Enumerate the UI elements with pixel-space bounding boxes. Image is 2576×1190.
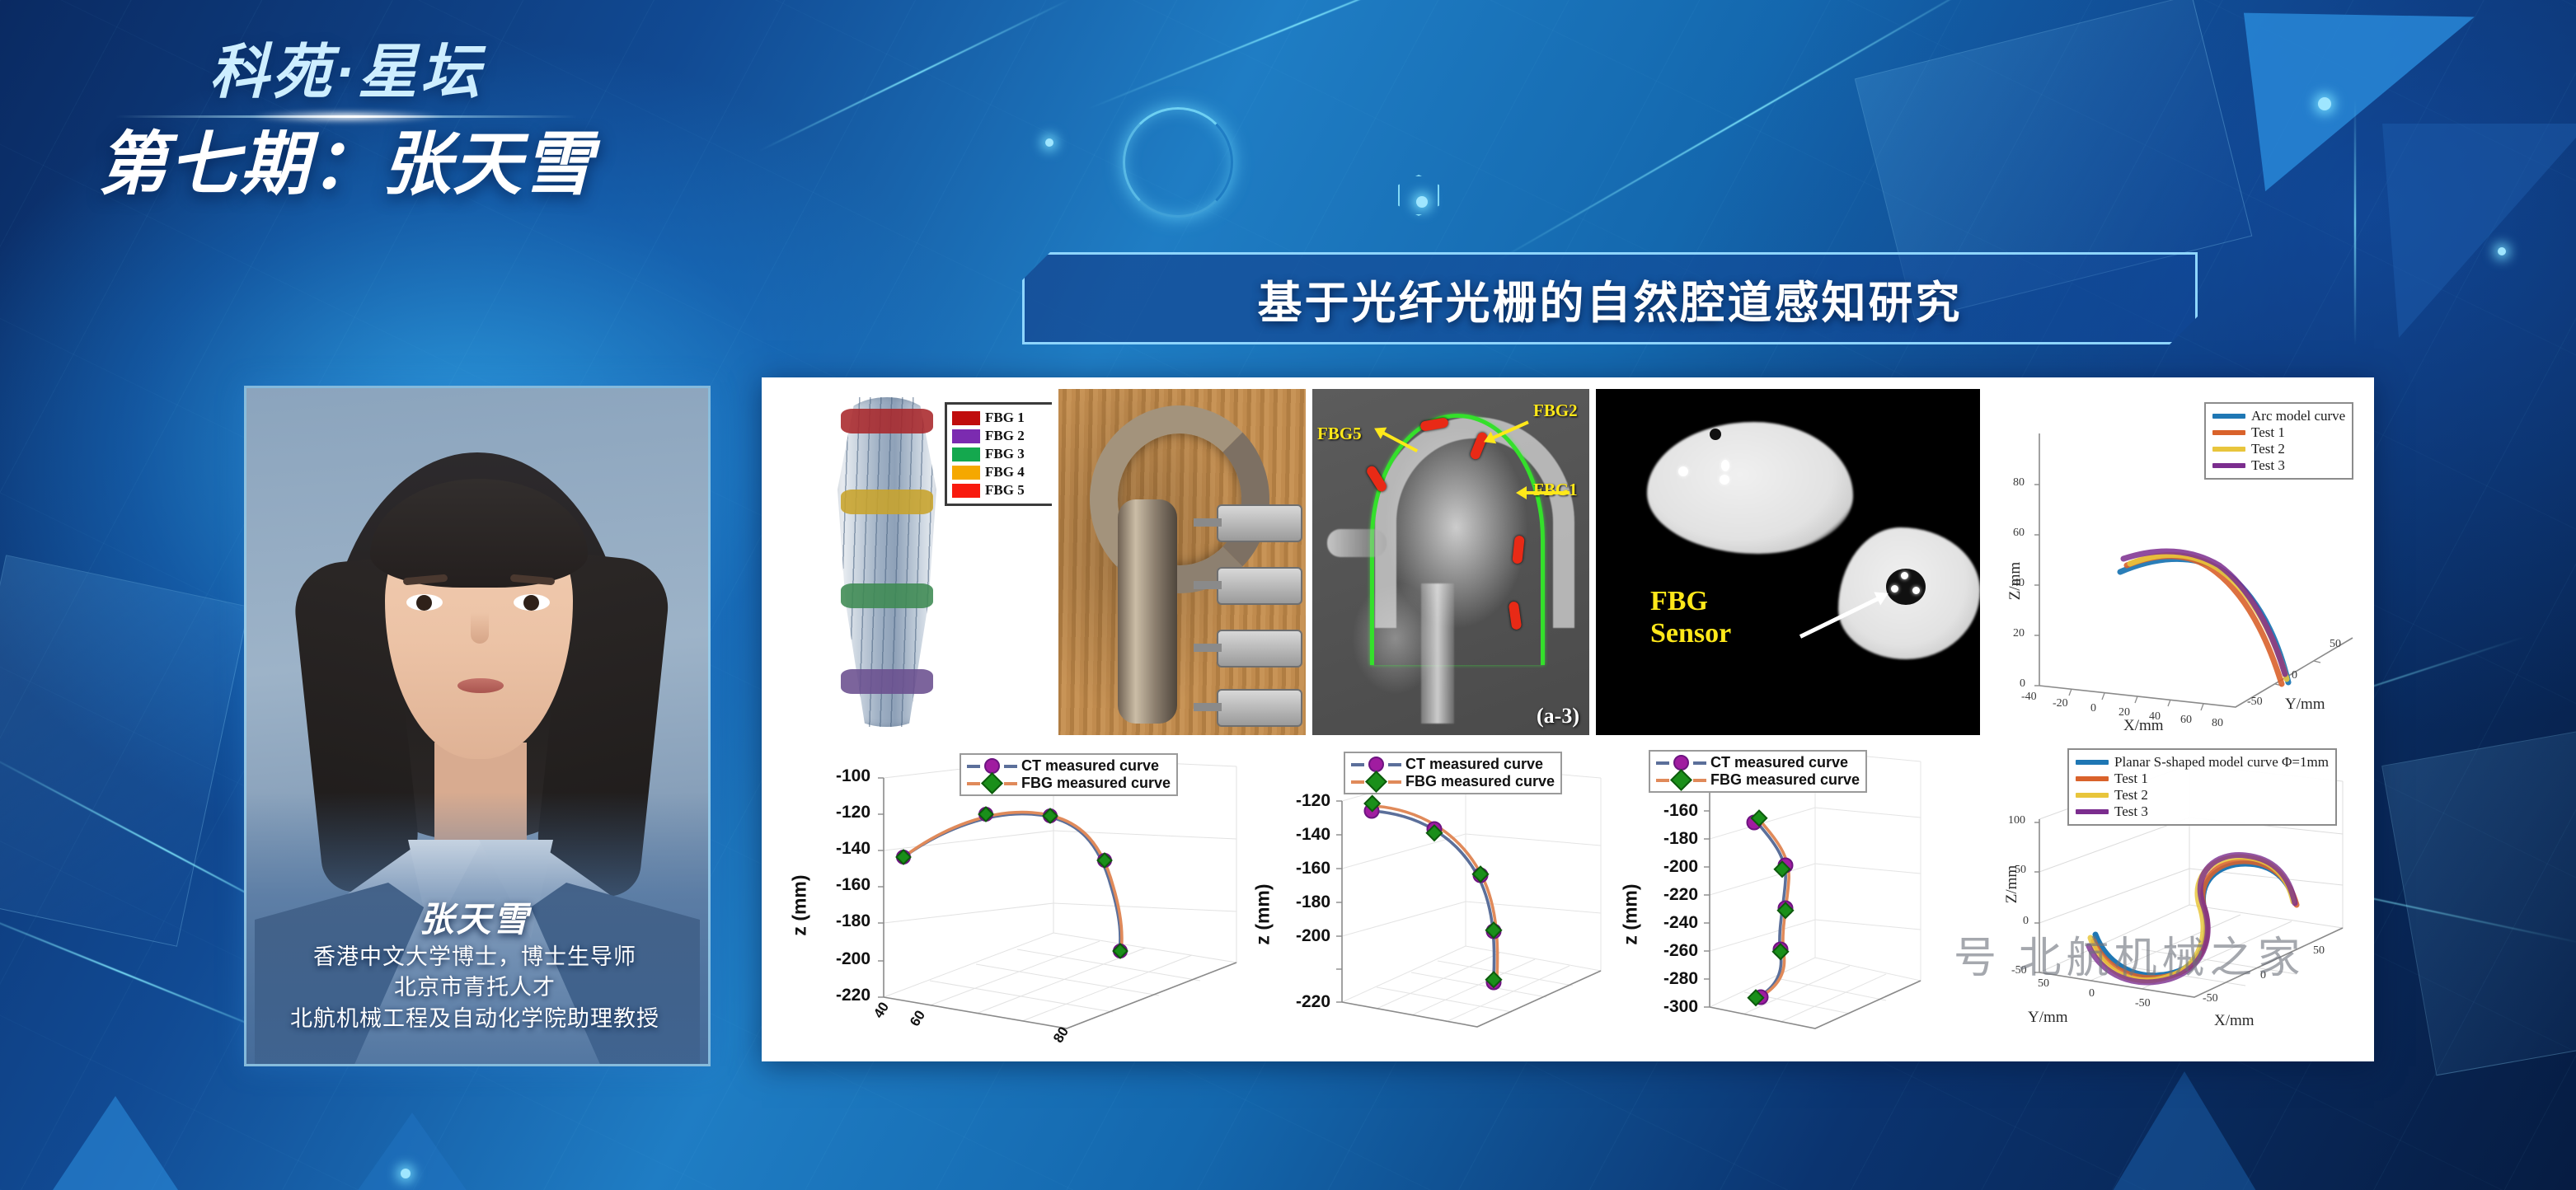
ztick-100: 100 bbox=[2008, 814, 2025, 827]
ct-bright-spot-1 bbox=[1678, 466, 1688, 476]
ytick--120: -120 bbox=[795, 803, 870, 822]
fbg1-tag: FBG1 bbox=[1533, 480, 1578, 500]
xtick--20: -20 bbox=[2053, 697, 2068, 710]
decor-triangle-bottom-left bbox=[49, 1096, 181, 1190]
decor-ring-arc bbox=[1123, 107, 1233, 218]
decor-glow-line-7 bbox=[2354, 99, 2356, 346]
tube-band-fbg4 bbox=[841, 490, 933, 514]
decor-triangle-bottom-mid bbox=[354, 1113, 470, 1190]
decor-dot-3 bbox=[401, 1169, 411, 1178]
legend-line-fbg-2 bbox=[1004, 782, 1017, 785]
legend-swatch-test3 bbox=[2076, 809, 2109, 814]
ytick--50: -50 bbox=[2135, 997, 2151, 1010]
legend-label: Arc model curve bbox=[2251, 408, 2345, 424]
fbg-swatch-4 bbox=[952, 466, 980, 480]
legend-row: Arc model curve bbox=[2212, 408, 2345, 424]
fbg1-arrow-icon bbox=[1525, 491, 1570, 494]
legend-swatch-test1 bbox=[2212, 430, 2245, 435]
legend-row: CT measured curve bbox=[1656, 754, 1860, 771]
ytick--120: -120 bbox=[1256, 791, 1330, 811]
fbg-swatch-2 bbox=[952, 429, 980, 443]
fbg-swatch-1 bbox=[952, 411, 980, 425]
decor-triangle-bottom-right bbox=[2110, 1071, 2259, 1190]
presenter-credential-1: 香港中文大学博士，博士生导师 bbox=[244, 942, 706, 972]
chart-ct-fbg-arc: CT measured curve FBG measured curve -10… bbox=[788, 750, 1250, 1050]
presenter-name: 张天雪 bbox=[244, 892, 706, 942]
decor-triangle-top-right bbox=[2241, 13, 2475, 195]
planar-axis-label-y: Y/mm bbox=[2028, 1009, 2068, 1027]
xtick-0: 0 bbox=[2090, 702, 2096, 715]
endoscope-assembly bbox=[1080, 401, 1220, 724]
arc-axis-label-x: X/mm bbox=[2123, 717, 2164, 735]
title-divider-glow bbox=[115, 115, 577, 118]
legend-line-ct bbox=[1351, 763, 1364, 766]
fbg-swatch-3 bbox=[952, 447, 980, 461]
fbg-swatch-5 bbox=[952, 484, 980, 498]
panel-fiber-tube-model: FBG 1 FBG 2 FBG 3 FBG 4 FBG 5 bbox=[788, 389, 1052, 735]
arc-axis-label-y: Y/mm bbox=[2285, 696, 2325, 714]
ytick--220: -220 bbox=[1256, 992, 1330, 1012]
ytick--100: -100 bbox=[795, 766, 870, 786]
legend-row: FBG measured curve bbox=[967, 775, 1171, 792]
decor-triangle-right-mid bbox=[2382, 124, 2576, 338]
legend-line-ct bbox=[1656, 761, 1669, 765]
presenter-credential-2: 北京市青托人才 bbox=[244, 972, 706, 1003]
decor-dot-4 bbox=[2498, 247, 2506, 255]
page-title: 第七期：张天雪 bbox=[82, 128, 610, 200]
presenter-info: 张天雪 香港中文大学博士，博士生导师 北京市青托人才 北航机械工程及自动化学院助… bbox=[244, 892, 706, 1034]
decor-dot-5 bbox=[1045, 138, 1053, 147]
legend-swatch-test1 bbox=[2076, 776, 2109, 781]
tube-band-fbg3 bbox=[841, 583, 933, 608]
ztick-0: 0 bbox=[2020, 677, 2025, 691]
fixture-clamp-3 bbox=[1217, 630, 1302, 668]
ct-bright-spot-3 bbox=[1720, 475, 1729, 485]
fbg-legend-label: FBG 5 bbox=[985, 482, 1025, 499]
legend-row: CT measured curve bbox=[1351, 756, 1555, 773]
fbg-color-legend: FBG 1 FBG 2 FBG 3 FBG 4 FBG 5 bbox=[945, 402, 1052, 506]
ct-fbg-bend-legend: CT measured curve FBG measured curve bbox=[1344, 752, 1562, 794]
decor-dot-1 bbox=[1416, 196, 1428, 208]
legend-label: Test 3 bbox=[2114, 803, 2148, 820]
decor-glow-line-1 bbox=[1088, 0, 1517, 110]
legend-line-ct-2 bbox=[1388, 763, 1401, 766]
legend-row: Test 3 bbox=[2212, 457, 2345, 474]
ct-fiber-core-2 bbox=[1891, 585, 1898, 593]
ytick-0: 0 bbox=[2292, 669, 2297, 682]
endoscope-loop bbox=[1090, 405, 1269, 593]
legend-swatch-arc-model bbox=[2212, 414, 2245, 419]
ct-dark-void bbox=[1710, 429, 1721, 440]
ct-fiber-core-3 bbox=[1912, 587, 1920, 594]
ytick--160: -160 bbox=[1624, 801, 1698, 821]
watermark-text: 号 北航机械之家 bbox=[1954, 923, 2305, 985]
legend-swatch-test2 bbox=[2076, 793, 2109, 798]
ct-fbg-arc-ylabel: z (mm) bbox=[789, 848, 811, 963]
legend-row: FBG measured curve bbox=[1351, 773, 1555, 790]
ztick-60: 60 bbox=[2013, 527, 2025, 540]
portrait-nose bbox=[471, 612, 489, 644]
fbg-legend-row: FBG 3 bbox=[952, 446, 1049, 462]
legend-swatch-planar-model bbox=[2076, 760, 2109, 765]
xtick-60: 60 bbox=[2180, 714, 2192, 727]
fbg-sensor-label: FBG Sensor bbox=[1650, 585, 1731, 649]
legend-row: FBG measured curve bbox=[1656, 771, 1860, 789]
fbg2-tag: FBG2 bbox=[1533, 401, 1578, 421]
decor-glow-line-8 bbox=[759, 0, 1071, 152]
planar-axis-label-z: Z/mm bbox=[2003, 855, 2021, 913]
poster-canvas: 科苑·星坛 第七期：张天雪 基于光纤光栅的自然腔道感知研究 张天雪 香港中文大学… bbox=[0, 0, 2576, 1190]
fbg-legend-row: FBG 2 bbox=[952, 428, 1049, 444]
ytick--180: -180 bbox=[1624, 829, 1698, 849]
legend-label: Test 1 bbox=[2251, 424, 2285, 441]
fbg-legend-label: FBG 1 bbox=[985, 410, 1025, 426]
ytick-50: 50 bbox=[2330, 638, 2341, 651]
legend-row: Test 2 bbox=[2076, 787, 2329, 803]
legend-row: Planar S-shaped model curve Φ=1mm bbox=[2076, 754, 2329, 771]
panel-endoscope-photo bbox=[1058, 389, 1306, 735]
fbg-diamond-marker-icon bbox=[1670, 769, 1692, 791]
ct-distal-stem bbox=[1421, 583, 1454, 724]
fbg-legend-label: FBG 2 bbox=[985, 428, 1025, 444]
decor-hex-small bbox=[1398, 175, 1439, 216]
chart-ct-fbg-bend: CT measured curve FBG measured curve -12… bbox=[1256, 750, 1619, 1050]
fbg-legend-row: FBG 4 bbox=[952, 464, 1049, 480]
legend-row: CT measured curve bbox=[967, 757, 1171, 775]
fixture-clamp-2 bbox=[1217, 567, 1302, 605]
ct-fbg-arc-legend: CT measured curve FBG measured curve bbox=[960, 753, 1178, 796]
fixture-clamp-1 bbox=[1217, 504, 1302, 542]
ytick--280: -280 bbox=[1624, 969, 1698, 989]
fbg-diamond-marker-icon bbox=[1365, 771, 1387, 793]
fbg-legend-label: FBG 4 bbox=[985, 464, 1025, 480]
chart-planar-s-3d: Planar S-shaped model curve Φ=1mm Test 1… bbox=[1998, 740, 2364, 1050]
legend-label: Test 2 bbox=[2114, 787, 2148, 803]
legend-label: FBG measured curve bbox=[1405, 773, 1555, 790]
legend-label: CT measured curve bbox=[1021, 757, 1159, 775]
legend-label: CT measured curve bbox=[1710, 754, 1848, 771]
legend-line-fbg bbox=[1351, 780, 1364, 784]
subtitle-banner: 基于光纤光栅的自然腔道感知研究 bbox=[1022, 252, 2198, 344]
legend-label: Test 3 bbox=[2251, 457, 2285, 474]
legend-label: Test 1 bbox=[2114, 771, 2148, 787]
tube-illustration bbox=[838, 397, 936, 727]
ytick-0: 0 bbox=[2089, 987, 2095, 1000]
planar-axis-label-x: X/mm bbox=[2214, 1012, 2255, 1030]
legend-label: Planar S-shaped model curve Φ=1mm bbox=[2114, 754, 2329, 771]
legend-line-fbg bbox=[1656, 779, 1669, 782]
legend-row: Test 3 bbox=[2076, 803, 2329, 820]
legend-line-ct bbox=[967, 765, 980, 768]
planar-s-legend: Planar S-shaped model curve Φ=1mm Test 1… bbox=[2067, 748, 2337, 826]
legend-swatch-test3 bbox=[2212, 463, 2245, 468]
legend-line-ct-2 bbox=[1693, 761, 1706, 765]
ztick-20: 20 bbox=[2013, 627, 2025, 640]
legend-row: Test 1 bbox=[2212, 424, 2345, 441]
ct-fbg-s-legend: CT measured curve FBG measured curve bbox=[1649, 750, 1867, 793]
ztick-80: 80 bbox=[2013, 476, 2025, 490]
endoscope-shaft bbox=[1118, 499, 1177, 724]
decor-panel-left bbox=[0, 555, 250, 947]
panel-ct-cross-section: FBG Sensor bbox=[1596, 389, 1980, 735]
fbg-legend-label: FBG 3 bbox=[985, 446, 1025, 462]
ct-fiber-core-1 bbox=[1901, 572, 1908, 579]
xtick-50: 50 bbox=[2313, 944, 2325, 958]
legend-line-fbg-2 bbox=[1693, 779, 1706, 782]
tube-band-fbg2 bbox=[841, 669, 933, 694]
arc-axis-label-z: Z/mm bbox=[2006, 552, 2025, 610]
fixture-clamp-4 bbox=[1217, 689, 1302, 727]
xtick--40: -40 bbox=[2021, 691, 2037, 704]
ct-tissue-upper bbox=[1647, 422, 1853, 554]
xtick--50: -50 bbox=[2203, 992, 2218, 1005]
legend-line-fbg-2 bbox=[1388, 780, 1401, 784]
fbg-legend-row: FBG 5 bbox=[952, 482, 1049, 499]
portrait-mouth bbox=[457, 678, 504, 693]
ytick--220: -220 bbox=[795, 986, 870, 1005]
portrait-eye-right bbox=[514, 594, 550, 611]
portrait-eye-left bbox=[406, 594, 443, 611]
ytick--50: -50 bbox=[2247, 696, 2263, 709]
legend-label: CT measured curve bbox=[1405, 756, 1543, 773]
panel-ct-fbg-callouts: FBG5 FBG2 FBG1 (a-3) bbox=[1312, 389, 1589, 735]
fbg-sensor-label-line2: Sensor bbox=[1650, 617, 1731, 649]
series-kicker: 科苑·星坛 bbox=[82, 43, 610, 102]
panel-caption-a3: (a-3) bbox=[1537, 704, 1579, 729]
legend-row: Test 1 bbox=[2076, 771, 2329, 787]
ct-fbg-s-ylabel: z (mm) bbox=[1620, 857, 1642, 972]
decor-dot-2 bbox=[2318, 97, 2331, 110]
legend-swatch-test2 bbox=[2212, 447, 2245, 452]
fbg-legend-row: FBG 1 bbox=[952, 410, 1049, 426]
fbg-diamond-marker-icon bbox=[981, 772, 1003, 794]
legend-row: Test 2 bbox=[2212, 441, 2345, 457]
title-block: 科苑·星坛 第七期：张天雪 bbox=[82, 43, 610, 200]
ct-fbg-bend-ylabel: z (mm) bbox=[1252, 857, 1274, 972]
chart-arc-model-3d: Arc model curve Test 1 Test 2 Test 3 80 … bbox=[1998, 389, 2364, 735]
presenter-credential-3: 北航机械工程及自动化学院助理教授 bbox=[244, 1004, 706, 1034]
legend-label: Test 2 bbox=[2251, 441, 2285, 457]
legend-line-ct-2 bbox=[1004, 765, 1017, 768]
legend-label: FBG measured curve bbox=[1021, 775, 1171, 792]
xtick-80: 80 bbox=[2212, 717, 2223, 730]
ytick--300: -300 bbox=[1624, 997, 1698, 1017]
ytick--140: -140 bbox=[1256, 825, 1330, 845]
legend-label: FBG measured curve bbox=[1710, 771, 1860, 789]
fbg-sensor-label-line1: FBG bbox=[1650, 585, 1731, 617]
ct-side-branch bbox=[1327, 529, 1387, 557]
fbg5-tag: FBG5 bbox=[1317, 424, 1362, 444]
decor-panel-lower-right bbox=[2381, 723, 2576, 1076]
tube-band-fbg1 bbox=[841, 409, 933, 433]
chart-ct-fbg-s: CT measured curve FBG measured curve -14… bbox=[1624, 750, 1983, 1050]
arc-model-legend: Arc model curve Test 1 Test 2 Test 3 bbox=[2204, 402, 2353, 480]
ct-bright-spot-2 bbox=[1721, 460, 1729, 471]
legend-line-fbg bbox=[967, 782, 980, 785]
subtitle-text: 基于光纤光栅的自然腔道感知研究 bbox=[1258, 266, 1963, 331]
